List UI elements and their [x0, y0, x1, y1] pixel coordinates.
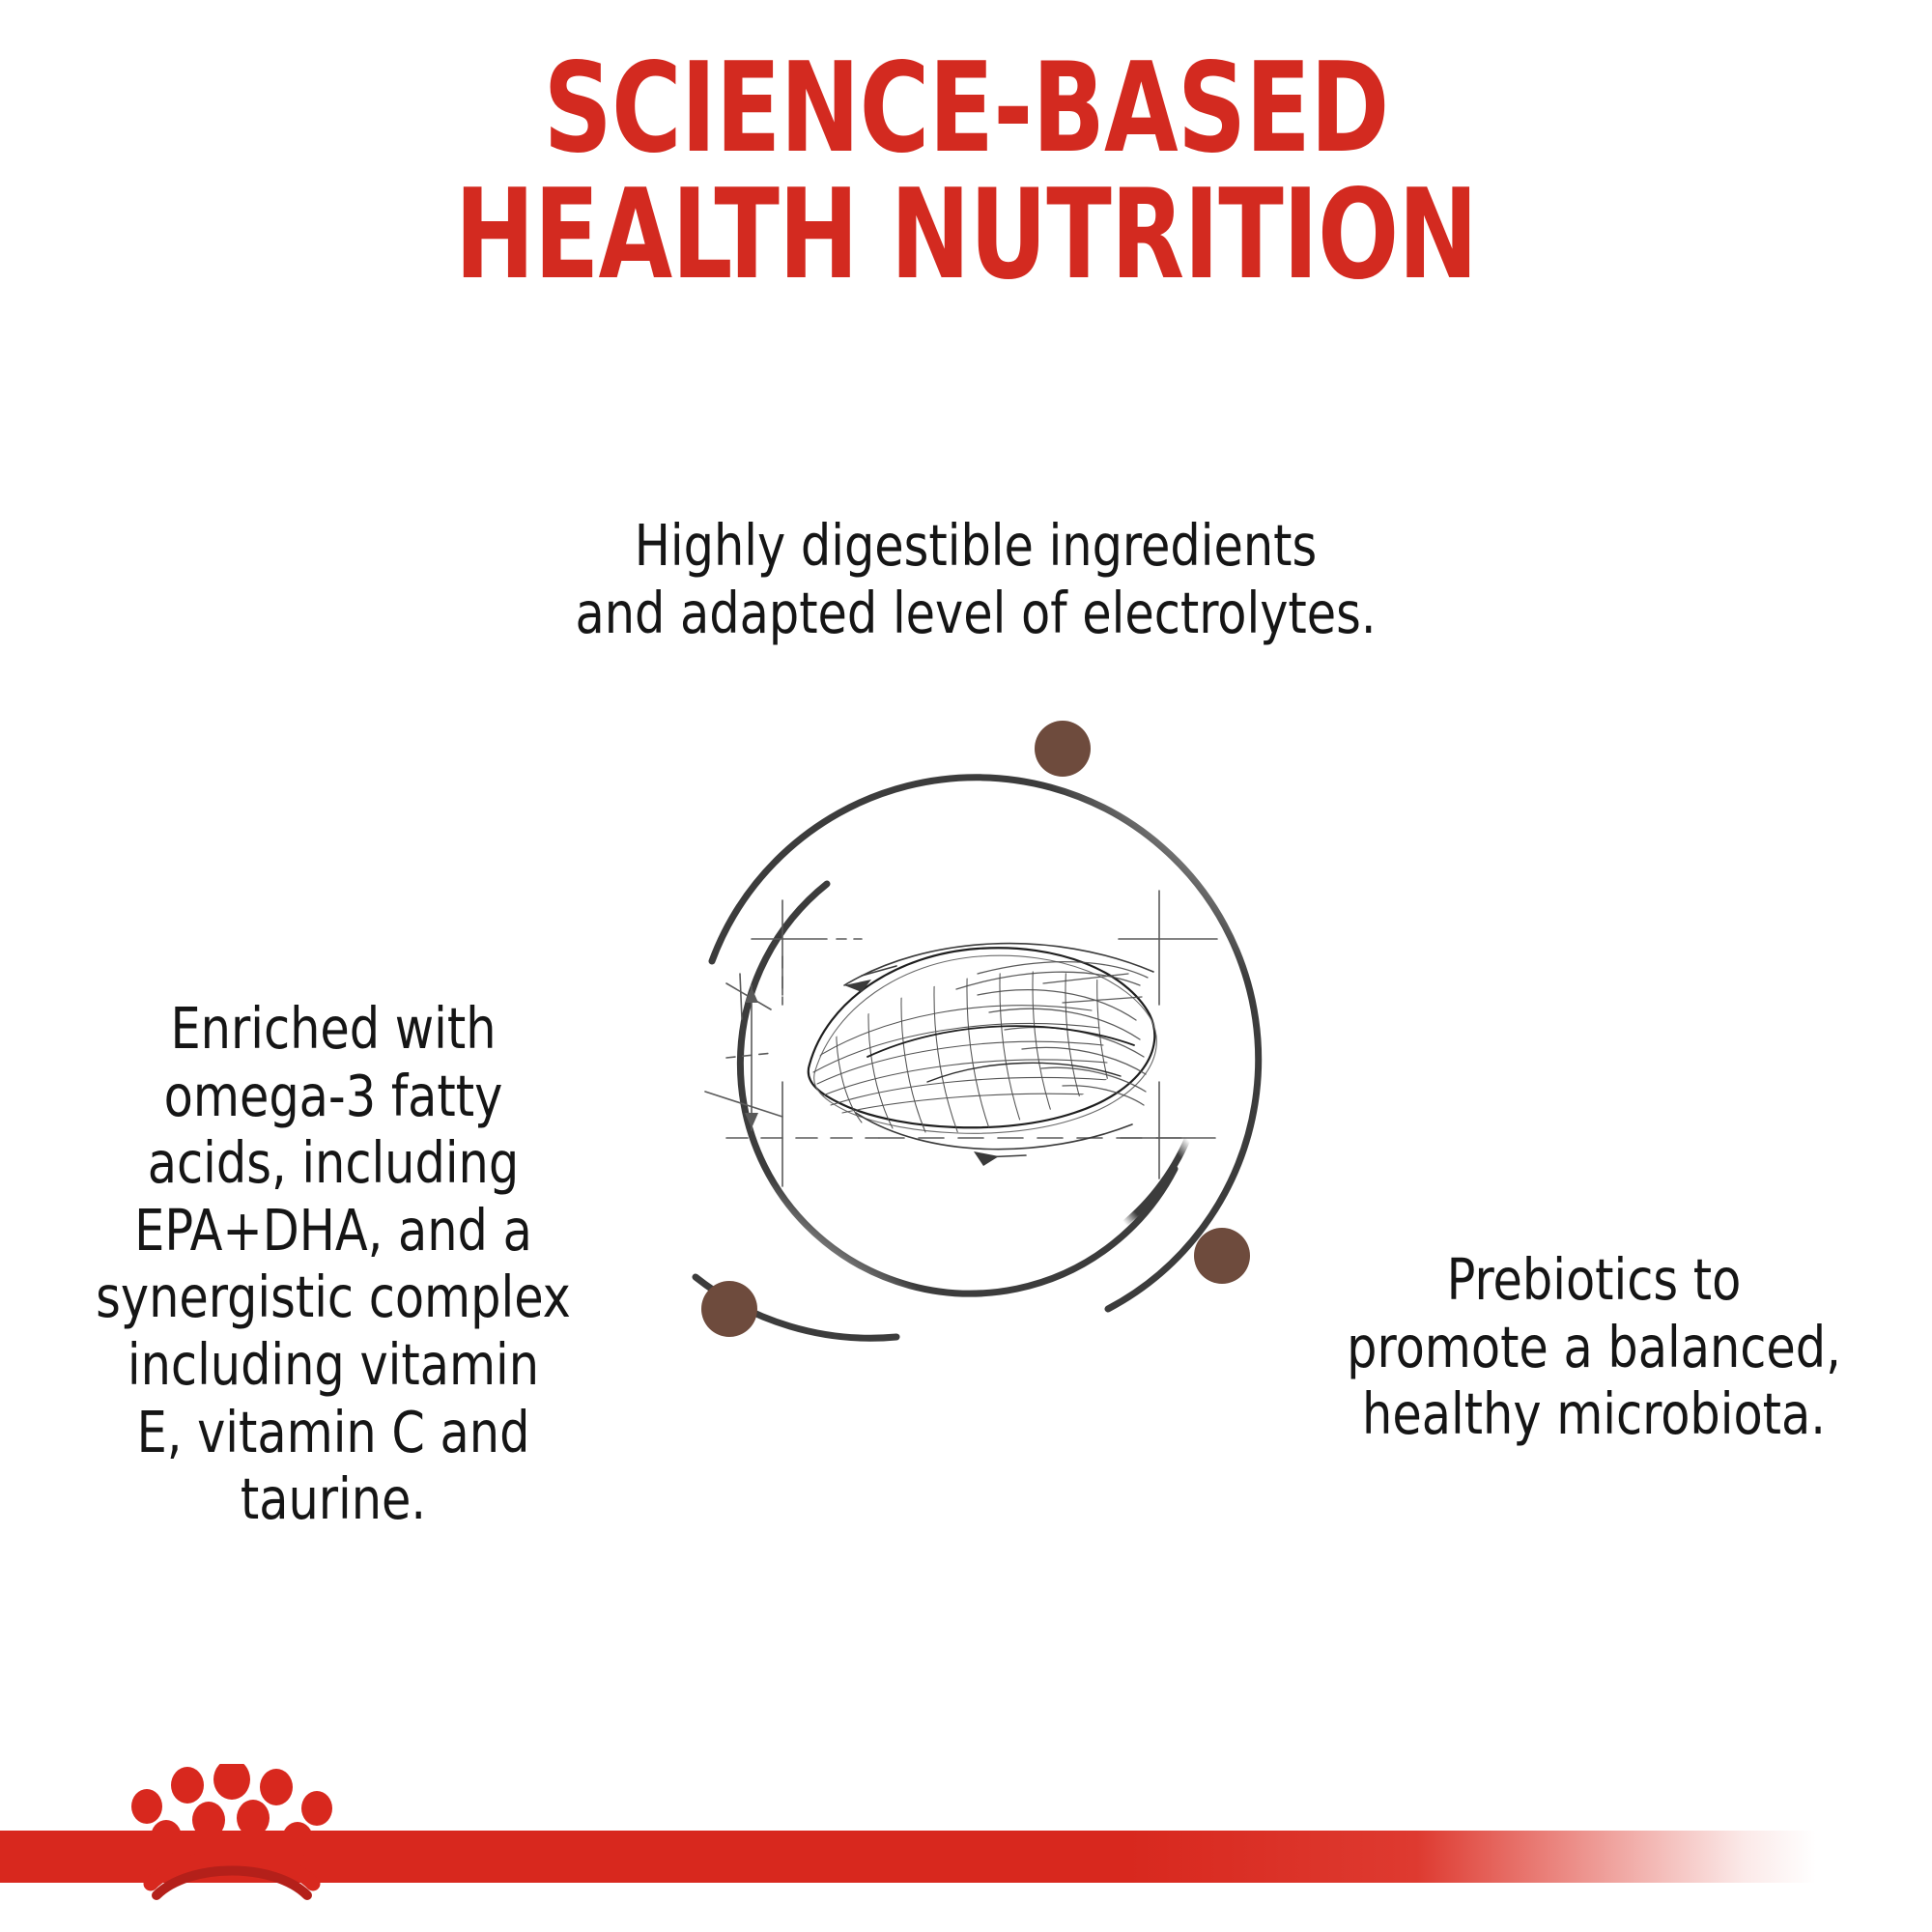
page-title: SCIENCE-BASED HEALTH NUTRITION: [135, 46, 1797, 298]
benefit-text-prebiotics: Prebiotics to promote a balanced, health…: [1316, 1246, 1873, 1448]
benefit-text-digestibility: Highly digestible ingredients and adapte…: [499, 512, 1452, 646]
kibble-hatching: [956, 962, 1148, 1105]
dimension-marks: [705, 891, 1217, 1186]
orbit-dot-right: [1194, 1228, 1250, 1284]
poster-canvas: SCIENCE-BASED HEALTH NUTRITION Highly di…: [0, 0, 1932, 1932]
royal-canin-crown-logo: [118, 1764, 346, 1909]
kibble-sketch: [705, 891, 1217, 1186]
benefit-text-omega-3: Enriched with omega-3 fatty acids, inclu…: [59, 995, 607, 1533]
orbit-ring-outer: [696, 778, 1259, 1338]
kibble-orbit-diagram: [638, 676, 1333, 1430]
orbit-dot-top: [1035, 721, 1091, 777]
orbit-dot-bottom-left: [701, 1281, 757, 1337]
